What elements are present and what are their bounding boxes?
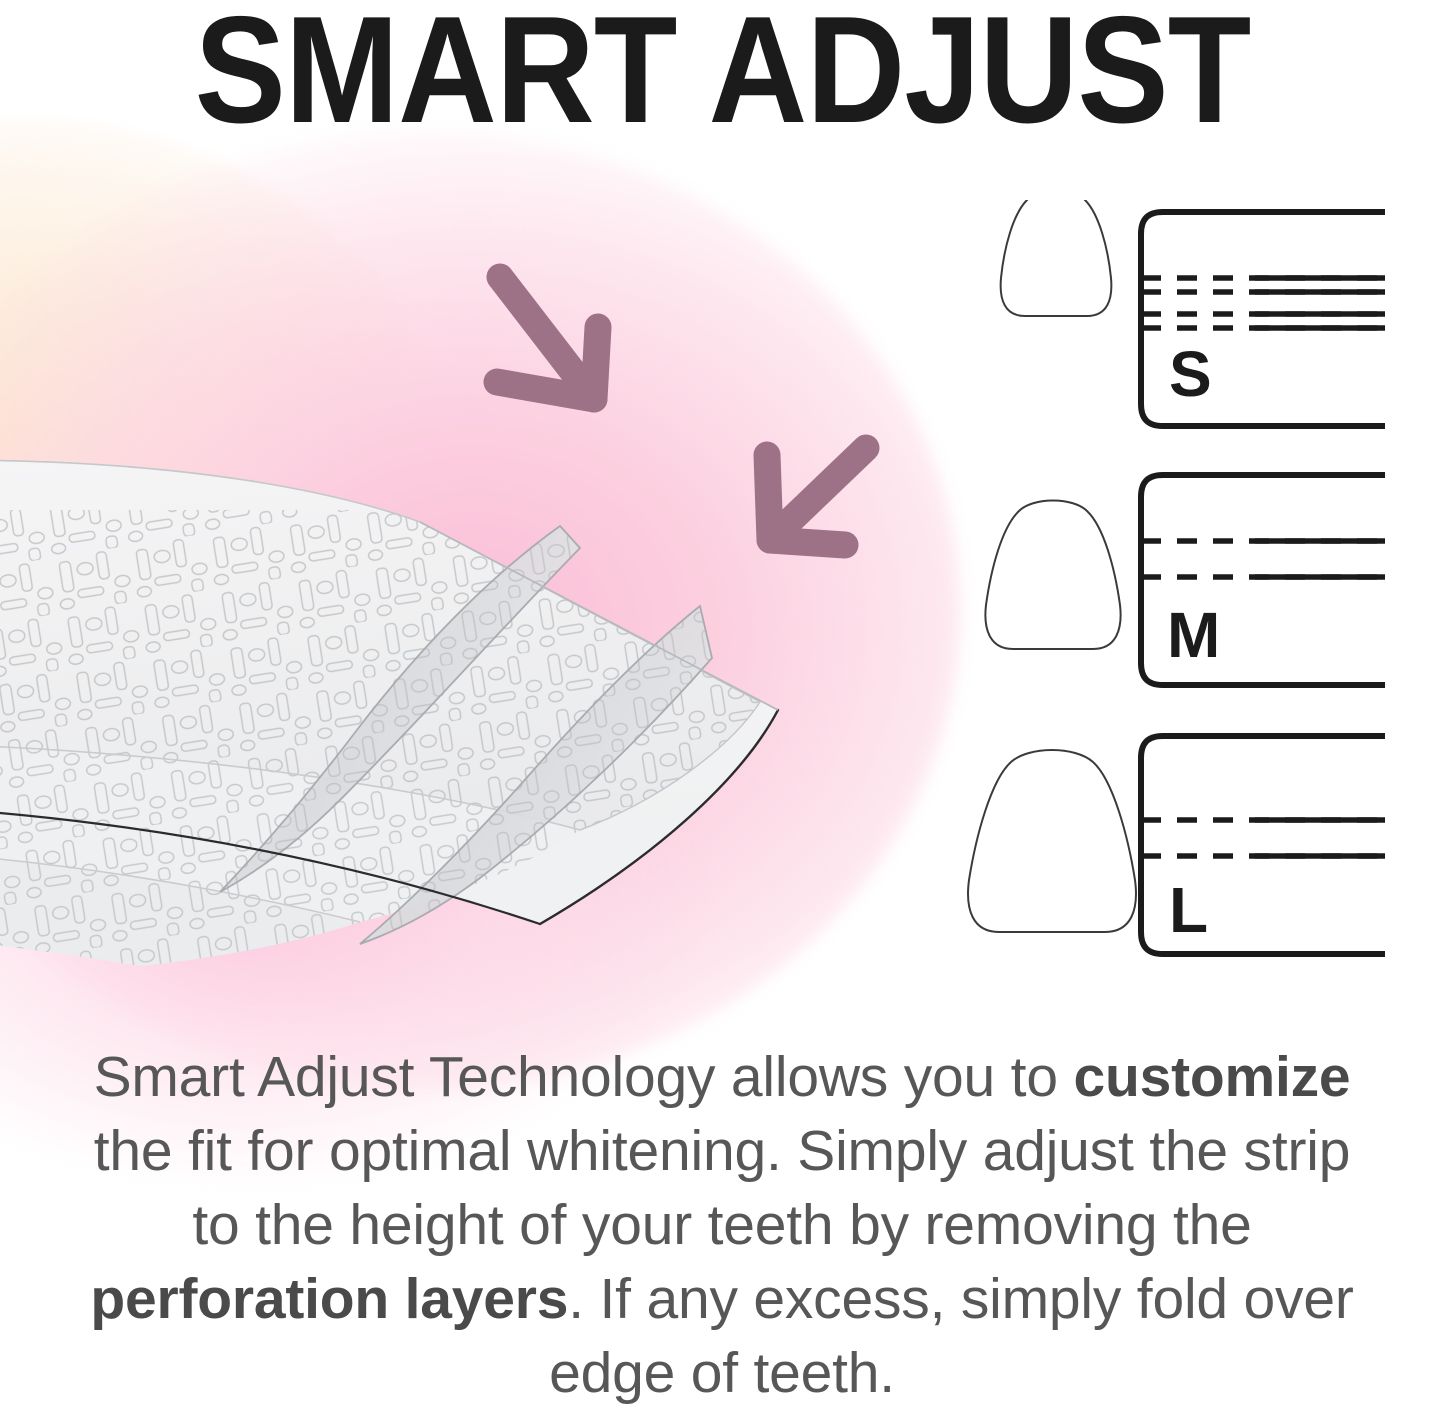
desc-line1-pre: Smart Adjust Technology allows you to (94, 1045, 1074, 1109)
size-label-m: M (1167, 599, 1220, 671)
tooth-outline-small (1001, 200, 1112, 316)
size-row-s: S (955, 200, 1385, 440)
desc-emphasis-perforation-layers: perforation layers (90, 1267, 568, 1331)
size-row-m: M (955, 465, 1385, 700)
whitening-strip-illustration (0, 330, 880, 970)
size-row-l: L (955, 720, 1385, 970)
desc-line4-post: . If any excess, simply fold over (568, 1267, 1353, 1331)
tooth-outline-medium (985, 501, 1120, 650)
tooth-outline-large (968, 750, 1136, 932)
perforation-line-s-1 (1141, 278, 1385, 292)
description-paragraph: Smart Adjust Technology allows you to cu… (72, 1040, 1372, 1410)
size-label-l: L (1169, 874, 1208, 946)
page-title-text: SMART ADJUST (195, 0, 1251, 146)
desc-line5: edge of teeth. (549, 1341, 895, 1405)
page-title: SMART ADJUST (0, 0, 1445, 146)
desc-line2: the fit for optimal whitening. Simply ad… (94, 1119, 1228, 1183)
size-label-s: S (1169, 338, 1212, 410)
perforation-size-guide: S M (955, 200, 1385, 975)
desc-emphasis-customize: customize (1073, 1045, 1350, 1109)
perforation-line-s-2 (1141, 314, 1385, 328)
